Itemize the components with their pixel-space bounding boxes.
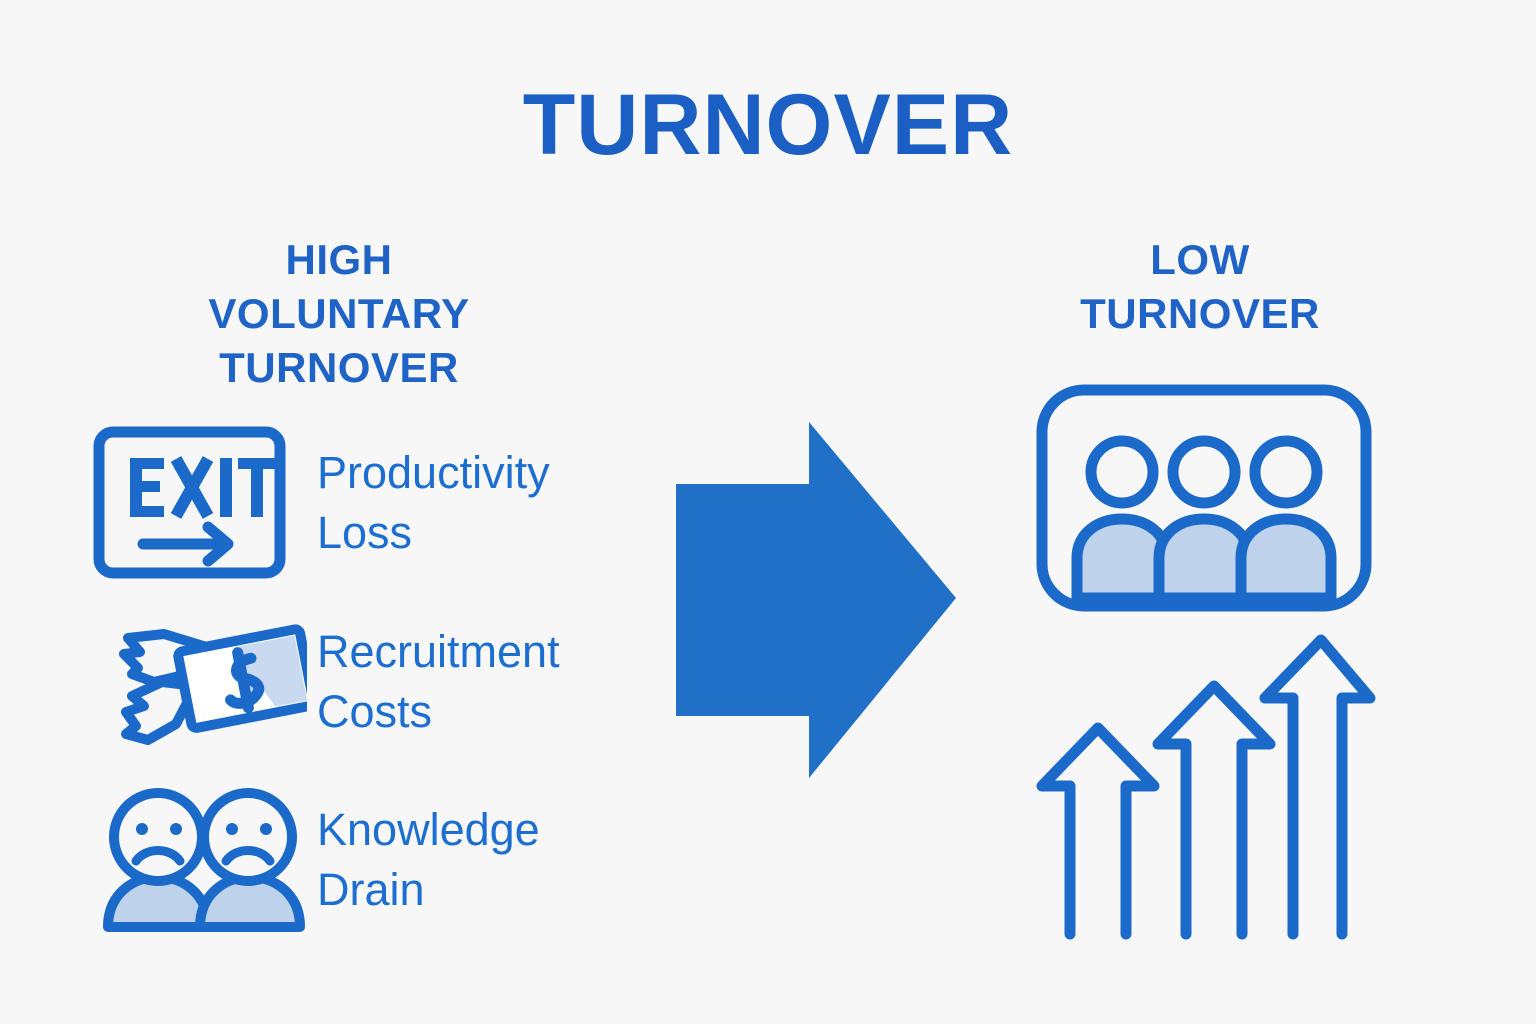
right-arrow-icon xyxy=(672,418,972,786)
list-item-label: Productivity Loss xyxy=(317,443,550,563)
list-item: Knowledge Drain xyxy=(92,785,682,935)
sad-people-icon-wrap xyxy=(92,785,317,935)
page-title: TURNOVER xyxy=(0,82,1536,168)
sad-people-icon xyxy=(92,785,317,935)
growth-arrows-icon xyxy=(1028,628,1376,940)
right-heading-line-2: TURNOVER xyxy=(990,287,1410,341)
right-heading-line-1: LOW xyxy=(990,233,1410,287)
flying-money-icon xyxy=(92,612,307,752)
list-item: Recruitment Costs xyxy=(92,612,682,752)
exit-sign-icon-wrap xyxy=(92,425,317,580)
list-item-label: Recruitment Costs xyxy=(317,622,560,742)
center-arrow-wrap xyxy=(672,418,972,786)
right-column-heading: LOW TURNOVER xyxy=(990,233,1410,341)
infographic-canvas: TURNOVER HIGH VOLUNTARY TURNOVER LOW TUR… xyxy=(0,0,1536,1024)
left-heading-line-2: VOLUNTARY xyxy=(74,287,604,341)
left-heading-line-3: TURNOVER xyxy=(74,341,604,395)
left-column-heading: HIGH VOLUNTARY TURNOVER xyxy=(74,233,604,394)
growth-arrows-icon-wrap xyxy=(1028,628,1376,940)
team-retention-icon xyxy=(1034,382,1374,614)
exit-sign-icon xyxy=(92,425,287,580)
flying-money-icon-wrap xyxy=(92,612,317,752)
left-heading-line-1: HIGH xyxy=(74,233,604,287)
team-retention-icon-wrap xyxy=(1034,382,1374,614)
list-item-label: Knowledge Drain xyxy=(317,800,540,920)
list-item: Productivity Loss xyxy=(92,425,682,580)
